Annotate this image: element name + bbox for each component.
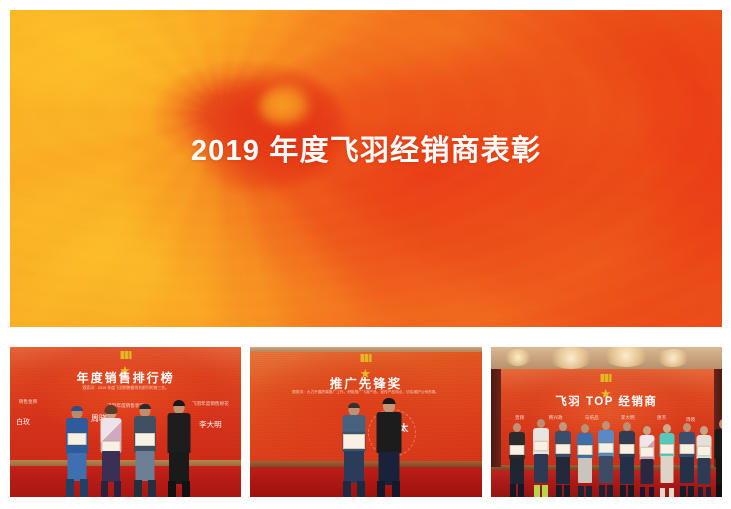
presenter: [713, 419, 722, 497]
thumbnail-title: 年度销售排行榜: [10, 369, 241, 386]
chandelier-icon: [549, 347, 593, 369]
thumbnail-title: 飞羽 TOP 经销商: [491, 393, 722, 409]
award-recipient: [695, 426, 714, 497]
gold-medal-star-icon: [359, 354, 372, 371]
award-recipient: [617, 422, 637, 497]
thumbnail-subtitle: 颁奖词：2019 年度飞羽销售额排名前列的前三名。: [19, 385, 232, 391]
award-recipient: [338, 404, 370, 497]
name-tag-1: 曾刚: [507, 415, 533, 421]
award-recipient: [96, 407, 126, 497]
award-recipient: [575, 424, 595, 497]
gold-medal-star-icon: [600, 374, 613, 391]
award-recipient: [677, 423, 697, 497]
award-recipient: [637, 426, 657, 497]
thumbnail-promotion-pioneer-award[interactable]: 推广先锋奖 颁奖词：大力开展终端推广工作，积极推广飞羽产品，宣传产品特点，切实维…: [250, 347, 481, 497]
medal-ribbon: [360, 354, 371, 362]
award-recipient: [596, 421, 616, 497]
medal-ribbon: [601, 374, 612, 382]
award-recipient: [62, 407, 92, 497]
hero-spiral-hook-highlight: [259, 83, 311, 127]
name-tag-3: 李大明: [187, 419, 233, 430]
hero-title: 2019 年度飞羽经销商表彰: [10, 134, 722, 169]
name-tag-1: 白玫: [10, 417, 46, 427]
chandelier-icon: [603, 347, 649, 367]
award-recipient: [553, 422, 573, 497]
thumbnail-row: 年度销售排行榜 颁奖词：2019 年度飞羽销售额排名前列的前三名。 飞羽年度销售…: [10, 347, 722, 497]
name-tag-5: 唐杰: [649, 415, 675, 421]
medal-ribbon: [120, 351, 131, 359]
thumbnail-subtitle: 颁奖词：大力开展终端推广工作，积极推广飞羽产品，宣传产品特点，切实维护公司形象。: [260, 389, 473, 395]
thumbnail-feiyu-top-dealer[interactable]: 飞羽 TOP 经销商 曾刚 韩兴政 马培品 李大明 唐杰 周晓: [491, 347, 722, 497]
thumbnail-annual-sales-ranking[interactable]: 年度销售排行榜 颁奖词：2019 年度飞羽销售额排名前列的前三名。 飞羽年度销售…: [10, 347, 241, 497]
hero-banner: 2019 年度飞羽经销商表彰: [10, 10, 722, 327]
award-recipient: [657, 424, 677, 497]
name-tag-4: 李大明: [615, 415, 641, 421]
presenter: [372, 400, 405, 497]
presenter: [164, 402, 194, 497]
side-wall-left: [491, 369, 501, 467]
award-recipient: [531, 419, 551, 497]
gold-medal-star-icon: [119, 351, 132, 368]
chandelier-icon: [505, 349, 531, 366]
stage-label-medal: 销售金牌: [10, 399, 58, 405]
award-recipient: [507, 423, 527, 497]
award-recipient: [130, 405, 160, 497]
ceiling-strip: [250, 347, 481, 352]
chandelier-icon: [657, 349, 689, 367]
